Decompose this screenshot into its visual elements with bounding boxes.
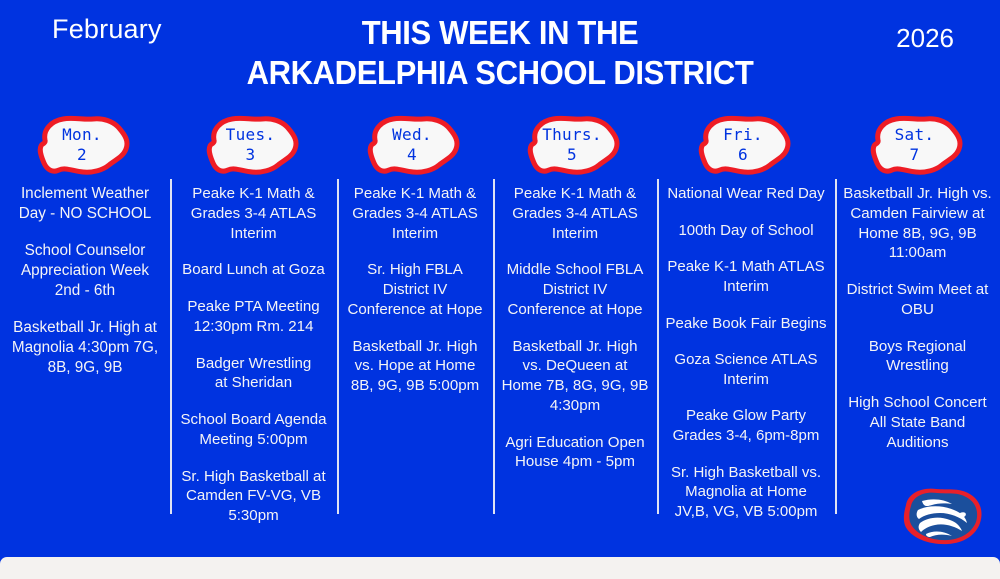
event-item: Sr. High Basketball vs. Magnolia at Home…	[663, 463, 829, 522]
event-item: Middle School FBLA District IV Conferenc…	[499, 260, 651, 319]
event-list: Basketball Jr. High vs. Camden Fairview …	[835, 184, 1000, 452]
page-title: THIS WEEK IN THE ARKADELPHIA SCHOOL DIST…	[199, 13, 801, 94]
event-list: Inclement Weather Day - NO SCHOOLSchool …	[0, 184, 170, 378]
event-item: Sr. High Basketball at Camden FV-VG, VB …	[176, 467, 331, 526]
day-name: Wed.	[392, 125, 432, 145]
day-number: 3	[246, 145, 256, 165]
poster-header: February THIS WEEK IN THE ARKADELPHIA SC…	[0, 0, 1000, 105]
day-badge: Tues.3	[202, 114, 306, 176]
day-number: 5	[567, 145, 577, 165]
year-label: 2026	[896, 23, 954, 54]
event-item: Basketball Jr. High vs. Hope at Home 8B,…	[343, 337, 487, 396]
event-item: Peake Book Fair Begins	[663, 314, 829, 334]
day-column-tues: Tues.3Peake K-1 Math & Grades 3-4 ATLAS …	[170, 105, 337, 557]
event-item: Basketball Jr. High vs. Camden Fairview …	[841, 184, 994, 263]
day-number: 6	[738, 145, 748, 165]
badger-head-logo	[892, 481, 988, 551]
event-item: Badger Wrestling at Sheridan	[176, 354, 331, 394]
day-name: Mon.	[62, 125, 102, 145]
event-item: Peake Glow Party Grades 3-4, 6pm-8pm	[663, 406, 829, 445]
day-name: Sat.	[895, 125, 935, 145]
event-item: Peake PTA Meeting 12:30pm Rm. 214	[176, 297, 331, 337]
day-badge: Thurs.5	[523, 114, 627, 176]
event-item: Peake K-1 Math & Grades 3-4 ATLAS Interi…	[499, 184, 651, 243]
day-number: 2	[77, 145, 87, 165]
event-item: Peake K-1 Math ATLAS Interim	[663, 257, 829, 296]
title-line-1: THIS WEEK IN THE	[199, 13, 801, 53]
event-item: District Swim Meet at OBU	[841, 280, 994, 320]
day-name: Thurs.	[542, 125, 602, 145]
title-line-2: ARKADELPHIA SCHOOL DISTRICT	[199, 53, 801, 93]
bottom-strip	[0, 557, 1000, 579]
day-name: Tues.	[226, 125, 276, 145]
event-item: High School Concert All State Band Audit…	[841, 393, 994, 452]
day-badge: Mon.2	[33, 114, 137, 176]
event-item: Peake K-1 Math & Grades 3-4 ATLAS Interi…	[343, 184, 487, 243]
event-item: Boys Regional Wrestling	[841, 337, 994, 377]
event-item: Peake K-1 Math & Grades 3-4 ATLAS Interi…	[176, 184, 331, 243]
event-item: Goza Science ATLAS Interim	[663, 350, 829, 389]
day-number: 7	[910, 145, 920, 165]
event-item: School Counselor Appreciation Week 2nd -…	[6, 241, 164, 301]
event-list: Peake K-1 Math & Grades 3-4 ATLAS Interi…	[493, 184, 657, 472]
event-item: Sr. High FBLA District IV Conference at …	[343, 260, 487, 319]
week-grid: Mon.2Inclement Weather Day - NO SCHOOLSc…	[0, 105, 1000, 557]
month-label: February	[52, 14, 162, 45]
event-item: 100th Day of School	[663, 221, 829, 241]
day-number: 4	[407, 145, 417, 165]
event-item: Agri Education Open House 4pm - 5pm	[499, 433, 651, 473]
day-badge: Wed.4	[363, 114, 467, 176]
event-list: National Wear Red Day100th Day of School…	[657, 184, 835, 522]
event-item: Board Lunch at Goza	[176, 260, 331, 280]
event-item: School Board Agenda Meeting 5:00pm	[176, 410, 331, 450]
event-item: Inclement Weather Day - NO SCHOOL	[6, 184, 164, 224]
event-list: Peake K-1 Math & Grades 3-4 ATLAS Interi…	[170, 184, 337, 526]
day-name: Fri.	[723, 125, 763, 145]
day-column-wed: Wed.4Peake K-1 Math & Grades 3-4 ATLAS I…	[337, 105, 493, 557]
day-column-mon: Mon.2Inclement Weather Day - NO SCHOOLSc…	[0, 105, 170, 557]
day-column-thurs: Thurs.5Peake K-1 Math & Grades 3-4 ATLAS…	[493, 105, 657, 557]
event-item: Basketball Jr. High vs. DeQueen at Home …	[499, 337, 651, 416]
day-column-fri: Fri.6National Wear Red Day100th Day of S…	[657, 105, 835, 557]
day-badge: Sat.7	[866, 114, 970, 176]
event-list: Peake K-1 Math & Grades 3-4 ATLAS Interi…	[337, 184, 493, 396]
day-badge: Fri.6	[694, 114, 798, 176]
weekly-calendar-poster: February THIS WEEK IN THE ARKADELPHIA SC…	[0, 0, 1000, 579]
event-item: National Wear Red Day	[663, 184, 829, 204]
event-item: Basketball Jr. High at Magnolia 4:30pm 7…	[6, 318, 164, 378]
